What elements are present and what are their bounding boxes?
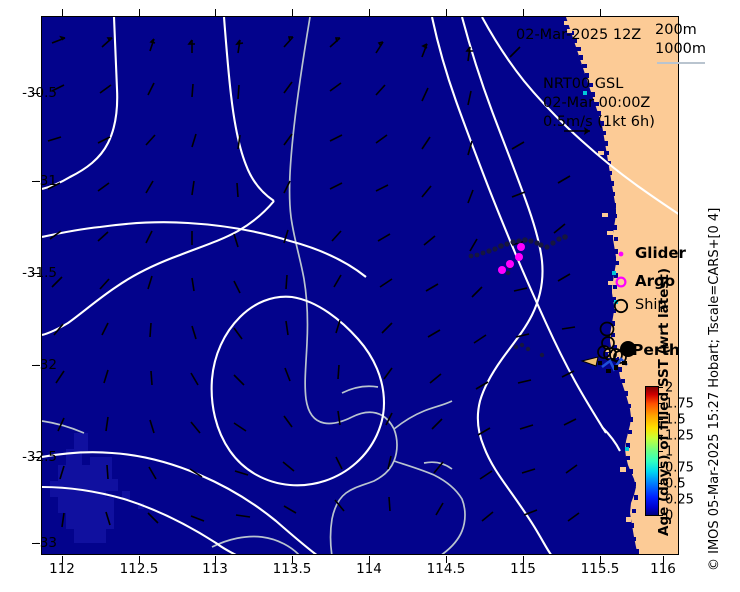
colorbar-title: Age (days) of filled SST (wrt latest) xyxy=(656,268,672,536)
current-scale-label: 0.5m/s (1kt 6h) xyxy=(543,114,655,130)
legend-label-glider: Glider xyxy=(635,244,686,262)
x-ticklabel: 116 xyxy=(650,561,676,577)
x-ticklabel: 112 xyxy=(49,561,75,577)
x-ticklabel: 115 xyxy=(510,561,536,577)
y-ticklabel: -30.5 xyxy=(22,85,57,101)
glider-legend-icon xyxy=(613,246,629,262)
x-ticklabel: 114.5 xyxy=(427,561,466,577)
x-tickmark-top xyxy=(369,9,370,16)
current-time-label: 02-Mar 00:00Z xyxy=(543,95,650,111)
y-ticklabel: -32 xyxy=(35,357,57,373)
x-tickmark-top xyxy=(523,9,524,16)
x-tickmark-top xyxy=(600,9,601,16)
x-tickmark-top xyxy=(139,9,140,16)
y-ticklabel: -31 xyxy=(35,173,57,189)
depth-legend-200m: 200m xyxy=(655,22,697,38)
y-ticklabel: -33 xyxy=(35,535,57,551)
credit-text: © IMOS 05-Mar-2025 15:27 Hobart; Tscale=… xyxy=(707,208,722,571)
argo-legend-icon xyxy=(612,273,630,291)
x-tickmark-top xyxy=(62,9,63,16)
figure-canvas: 02-Mar-2025 12Z 200m 1000m NRT00 GSL 02-… xyxy=(0,0,740,592)
x-tickmark-top xyxy=(215,9,216,16)
x-ticklabel: 113.5 xyxy=(273,561,312,577)
current-source-label: NRT00 GSL xyxy=(543,76,623,92)
x-tickmark-top xyxy=(292,9,293,16)
x-ticklabel: 114 xyxy=(356,561,382,577)
current-scale-arrow-icon xyxy=(564,124,598,138)
y-ticklabel: -31.5 xyxy=(22,265,57,281)
depth-legend-rule xyxy=(657,62,705,64)
date-stamp: 02-Mar-2025 12Z xyxy=(516,27,641,43)
x-ticklabel: 115.5 xyxy=(581,561,620,577)
x-tickmark-top xyxy=(446,9,447,16)
y-ticklabel: -32.5 xyxy=(22,449,57,465)
x-ticklabel: 113 xyxy=(202,561,228,577)
depth-legend-1000m: 1000m xyxy=(655,41,706,57)
ship-legend-icon xyxy=(611,296,631,316)
x-ticklabel: 112.5 xyxy=(120,561,159,577)
